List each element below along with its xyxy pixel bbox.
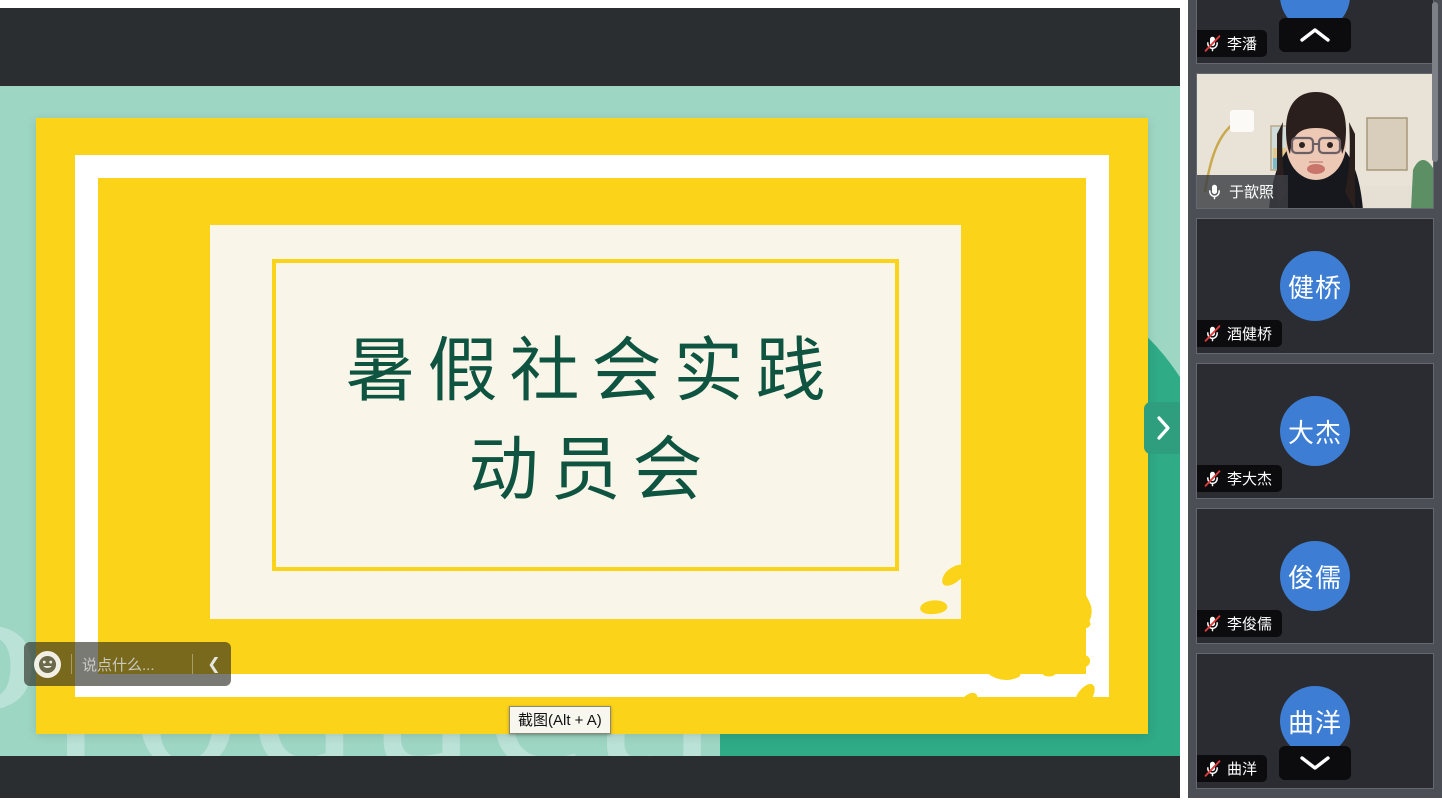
participant-name: 李潘	[1227, 33, 1257, 54]
name-badge: 于歆照	[1197, 175, 1288, 208]
participant-name: 李俊儒	[1227, 613, 1272, 634]
participant-name: 酒健桥	[1227, 323, 1272, 344]
shared-screen-stage[interactable]: Production Plan 暑假社会实践 动员会	[0, 8, 1180, 798]
screenshot-tooltip: 截图(Alt + A)	[509, 706, 611, 734]
name-badge: 李俊儒	[1197, 610, 1282, 637]
chat-input-bar[interactable]: 说点什么... ❮	[24, 642, 231, 686]
next-slide-button[interactable]	[1144, 402, 1180, 454]
slide-title: 暑假社会实践 动员会	[210, 323, 961, 522]
participant-sidebar[interactable]: 李潘	[1188, 0, 1442, 798]
scroll-down-button[interactable]	[1279, 746, 1351, 780]
chevron-left-icon[interactable]: ❮	[203, 654, 225, 674]
mic-muted-icon	[1203, 34, 1222, 53]
participant-tile[interactable]: 大杰 李大杰	[1196, 363, 1434, 499]
lightbulb-illustration	[916, 523, 1136, 738]
slide-title-card: 暑假社会实践 动员会	[210, 225, 961, 619]
mic-muted-icon	[1203, 324, 1222, 343]
mic-muted-icon	[1203, 614, 1222, 633]
chat-divider-2	[192, 654, 193, 674]
participant-name: 曲洋	[1227, 758, 1257, 779]
participant-tile[interactable]: 俊儒 李俊儒	[1196, 508, 1434, 644]
scroll-up-button[interactable]	[1279, 18, 1351, 52]
emoji-icon[interactable]	[34, 651, 61, 678]
chevron-right-icon	[1156, 415, 1172, 441]
avatar: 俊儒	[1280, 541, 1350, 611]
letterbox-top	[0, 8, 1180, 86]
letterbox-bottom	[0, 756, 1180, 798]
name-badge: 李潘	[1197, 30, 1267, 57]
mic-muted-icon	[1203, 469, 1222, 488]
mic-muted-icon	[1203, 759, 1222, 778]
chevron-up-icon	[1299, 27, 1331, 43]
participant-strip: 李潘	[1188, 0, 1442, 789]
chat-input[interactable]: 说点什么...	[82, 654, 182, 675]
participant-tile[interactable]: 于歆照	[1196, 73, 1434, 209]
chevron-down-icon	[1299, 755, 1331, 771]
video-conference-window: Production Plan 暑假社会实践 动员会	[0, 0, 1442, 806]
chat-divider-1	[71, 654, 72, 674]
participant-name: 李大杰	[1227, 468, 1272, 489]
participant-name: 于歆照	[1229, 181, 1274, 202]
smiley-face-glyph	[38, 655, 57, 674]
name-badge: 曲洋	[1197, 755, 1267, 782]
slide-title-line-1: 暑假社会实践	[210, 323, 961, 422]
participant-tile[interactable]: 健桥 酒健桥	[1196, 218, 1434, 354]
avatar: 大杰	[1280, 396, 1350, 466]
name-badge: 李大杰	[1197, 465, 1282, 492]
slide-title-line-2: 动员会	[210, 422, 961, 521]
sidebar-scrollbar[interactable]	[1434, 0, 1440, 798]
avatar: 健桥	[1280, 251, 1350, 321]
mic-on-icon	[1205, 182, 1224, 201]
sidebar-scrollbar-thumb[interactable]	[1432, 2, 1438, 162]
name-badge: 酒健桥	[1197, 320, 1282, 347]
